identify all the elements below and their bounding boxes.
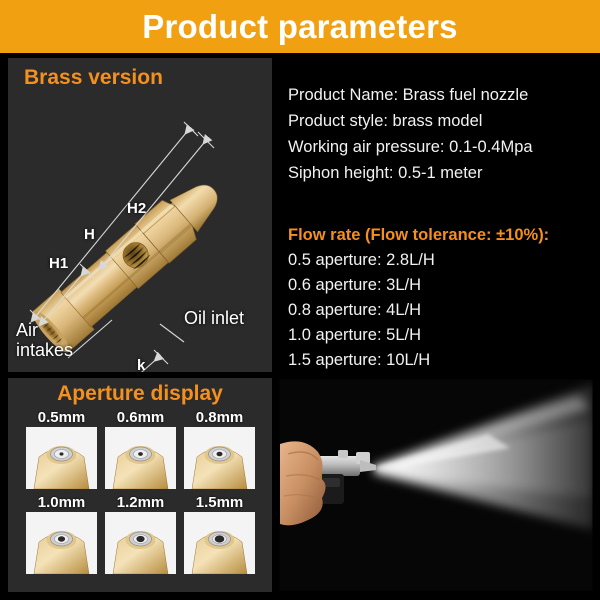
- nozzle-diagram: H H2 H1 k Oil inlet Air intakes: [8, 58, 272, 372]
- dimension-label-h2: H2: [127, 200, 146, 217]
- flow-rate-row-08: 0.8 aperture: 4L/H: [288, 298, 594, 323]
- aperture-item-5[interactable]: 1.5mm: [184, 493, 255, 574]
- flow-rate-block: Flow rate (Flow tolerance: ±10%): 0.5 ap…: [288, 223, 594, 373]
- air-intakes-label-line2: intakes: [16, 340, 73, 360]
- aperture-caption: 1.0mm: [26, 493, 97, 512]
- oil-inlet-label: Oil inlet: [184, 308, 244, 328]
- spec-line-air-pressure: Working air pressure: 0.1-0.4Mpa: [288, 134, 588, 160]
- aperture-item-3[interactable]: 1.0mm: [26, 493, 97, 574]
- aperture-item-1[interactable]: 0.6mm: [105, 408, 176, 489]
- flow-rate-row-05: 0.5 aperture: 2.8L/H: [288, 248, 594, 273]
- flow-rate-row-10: 1.0 aperture: 5L/H: [288, 323, 594, 348]
- aperture-thumbnail[interactable]: [105, 512, 176, 574]
- brass-version-panel: Brass version: [8, 58, 272, 372]
- aperture-caption: 0.5mm: [26, 408, 97, 427]
- nozzle-tip-icon: [26, 512, 97, 574]
- aperture-caption: 1.2mm: [105, 493, 176, 512]
- specifications-panel: Product Name: Brass fuel nozzle Product …: [276, 58, 594, 372]
- nozzle-tip-icon: [105, 427, 176, 489]
- nozzle-tip-icon: [105, 512, 176, 574]
- spec-line-siphon-height: Siphon height: 0.5-1 meter: [288, 160, 588, 186]
- aperture-caption: 0.8mm: [184, 408, 255, 427]
- aperture-caption: 0.6mm: [105, 408, 176, 427]
- aperture-thumbnail[interactable]: [184, 512, 255, 574]
- header-banner: Product parameters: [0, 0, 600, 53]
- spray-gun-mist-illustration: [278, 378, 594, 592]
- dimension-label-k: k: [137, 357, 145, 374]
- page-title: Product parameters: [142, 10, 457, 43]
- nozzle-tip-icon: [184, 427, 255, 489]
- product-parameters-infographic: Product parameters Brass version: [0, 0, 600, 600]
- aperture-thumbnail[interactable]: [26, 427, 97, 489]
- spec-list: Product Name: Brass fuel nozzle Product …: [288, 82, 588, 186]
- nozzle-tip-icon: [26, 427, 97, 489]
- aperture-caption: 1.5mm: [184, 493, 255, 512]
- aperture-thumbnail[interactable]: [105, 427, 176, 489]
- aperture-thumbnail[interactable]: [26, 512, 97, 574]
- spray-demo-photo: [278, 378, 594, 592]
- dimension-label-h1: H1: [49, 255, 68, 272]
- flow-rate-row-06: 0.6 aperture: 3L/H: [288, 273, 594, 298]
- aperture-display-panel: Aperture display 0.5mm: [8, 378, 272, 592]
- spec-line-product-style: Product style: brass model: [288, 108, 588, 134]
- air-intakes-label: Air intakes: [16, 320, 73, 360]
- spec-line-product-name: Product Name: Brass fuel nozzle: [288, 82, 588, 108]
- aperture-item-2[interactable]: 0.8mm: [184, 408, 255, 489]
- flow-rate-heading: Flow rate (Flow tolerance: ±10%):: [288, 223, 594, 248]
- air-intakes-label-line1: Air: [16, 320, 38, 340]
- aperture-thumbnail[interactable]: [184, 427, 255, 489]
- dimension-label-h: H: [84, 226, 95, 243]
- flow-rate-row-15: 1.5 aperture: 10L/H: [288, 348, 594, 373]
- aperture-item-4[interactable]: 1.2mm: [105, 493, 176, 574]
- nozzle-tip-icon: [184, 512, 255, 574]
- aperture-item-0[interactable]: 0.5mm: [26, 408, 97, 489]
- aperture-display-title: Aperture display: [8, 382, 272, 406]
- aperture-grid: 0.5mm: [26, 408, 256, 578]
- aperture-row-1: 0.5mm: [26, 408, 256, 489]
- aperture-row-2: 1.0mm 1.2mm: [26, 493, 256, 574]
